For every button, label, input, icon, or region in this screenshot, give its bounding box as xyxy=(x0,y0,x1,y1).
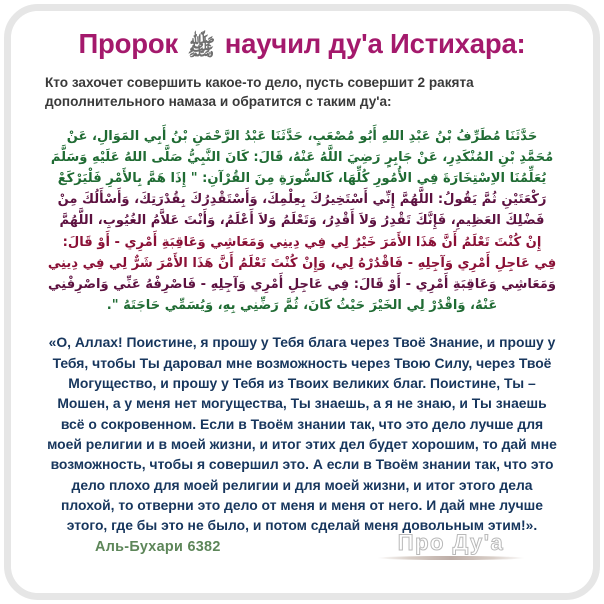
brand-logo: Про Ду'а xyxy=(377,531,525,560)
card-footer: Аль-Бухари 6382 Про Ду'а xyxy=(37,531,567,573)
arabic-hadith-block: حَدَّثَنَا مُطَرِّفُ بْنُ عَبْدِ اللهِ أ… xyxy=(39,126,565,317)
card-inner: Пророк ﷺ научил ду'а Истихара: Кто захоч… xyxy=(11,11,593,593)
russian-translation: «О, Аллах! Поистине, я прошу у Тебя благ… xyxy=(47,332,557,535)
arabic-line: فِي عَاجِلِ أَمْرِي وَآجِلِهِ - فَاقْدُر… xyxy=(39,253,565,274)
arabic-line: إِنْ كُنْتَ تَعْلَمُ أَنَّ هَذَا الأَمَر… xyxy=(39,232,565,253)
intro-paragraph: Кто захочет совершить какое-то дело, пус… xyxy=(45,73,559,112)
brand-logo-swoosh xyxy=(377,556,525,560)
arabic-line: فَضْلِكَ العَظِيمِ، فَإِنَّكَ تَقْدِرُ و… xyxy=(39,210,565,231)
title-part-1: Пророк xyxy=(78,28,178,59)
arabic-line: وَمَعَاشِي وَعَاقِبَةِ أَمْرِي - أَوْ قَ… xyxy=(39,274,565,295)
arabic-line: يُعَلِّمُنَا الاِسْتِخَارَةَ فِي الأُمُو… xyxy=(39,168,565,189)
title-part-2: научил ду'а Истихара: xyxy=(225,28,526,59)
dua-card: Пророк ﷺ научил ду'а Истихара: Кто захоч… xyxy=(4,4,600,600)
arabic-line: عَنْهُ، وَاقْدُرْ لِي الخَيْرَ حَيْثُ كَ… xyxy=(39,295,565,316)
salla-allahu-alayhi-wasallam-glyph: ﷺ xyxy=(187,37,215,60)
arabic-line: مُحَمَّدِ بْنِ المُنْكَدِرِ، عَنْ جَابِر… xyxy=(39,147,565,168)
arabic-line: حَدَّثَنَا مُطَرِّفُ بْنُ عَبْدِ اللهِ أ… xyxy=(39,126,565,147)
page-title: Пророк ﷺ научил ду'а Истихара: xyxy=(37,29,567,60)
hadith-source: Аль-Бухари 6382 xyxy=(95,539,221,555)
arabic-line: رَكْعَتَيْنِ ثُمَّ يَقُولُ: اللَّهُمَّ إ… xyxy=(39,189,565,210)
brand-logo-text: Про Ду'а xyxy=(377,531,525,555)
